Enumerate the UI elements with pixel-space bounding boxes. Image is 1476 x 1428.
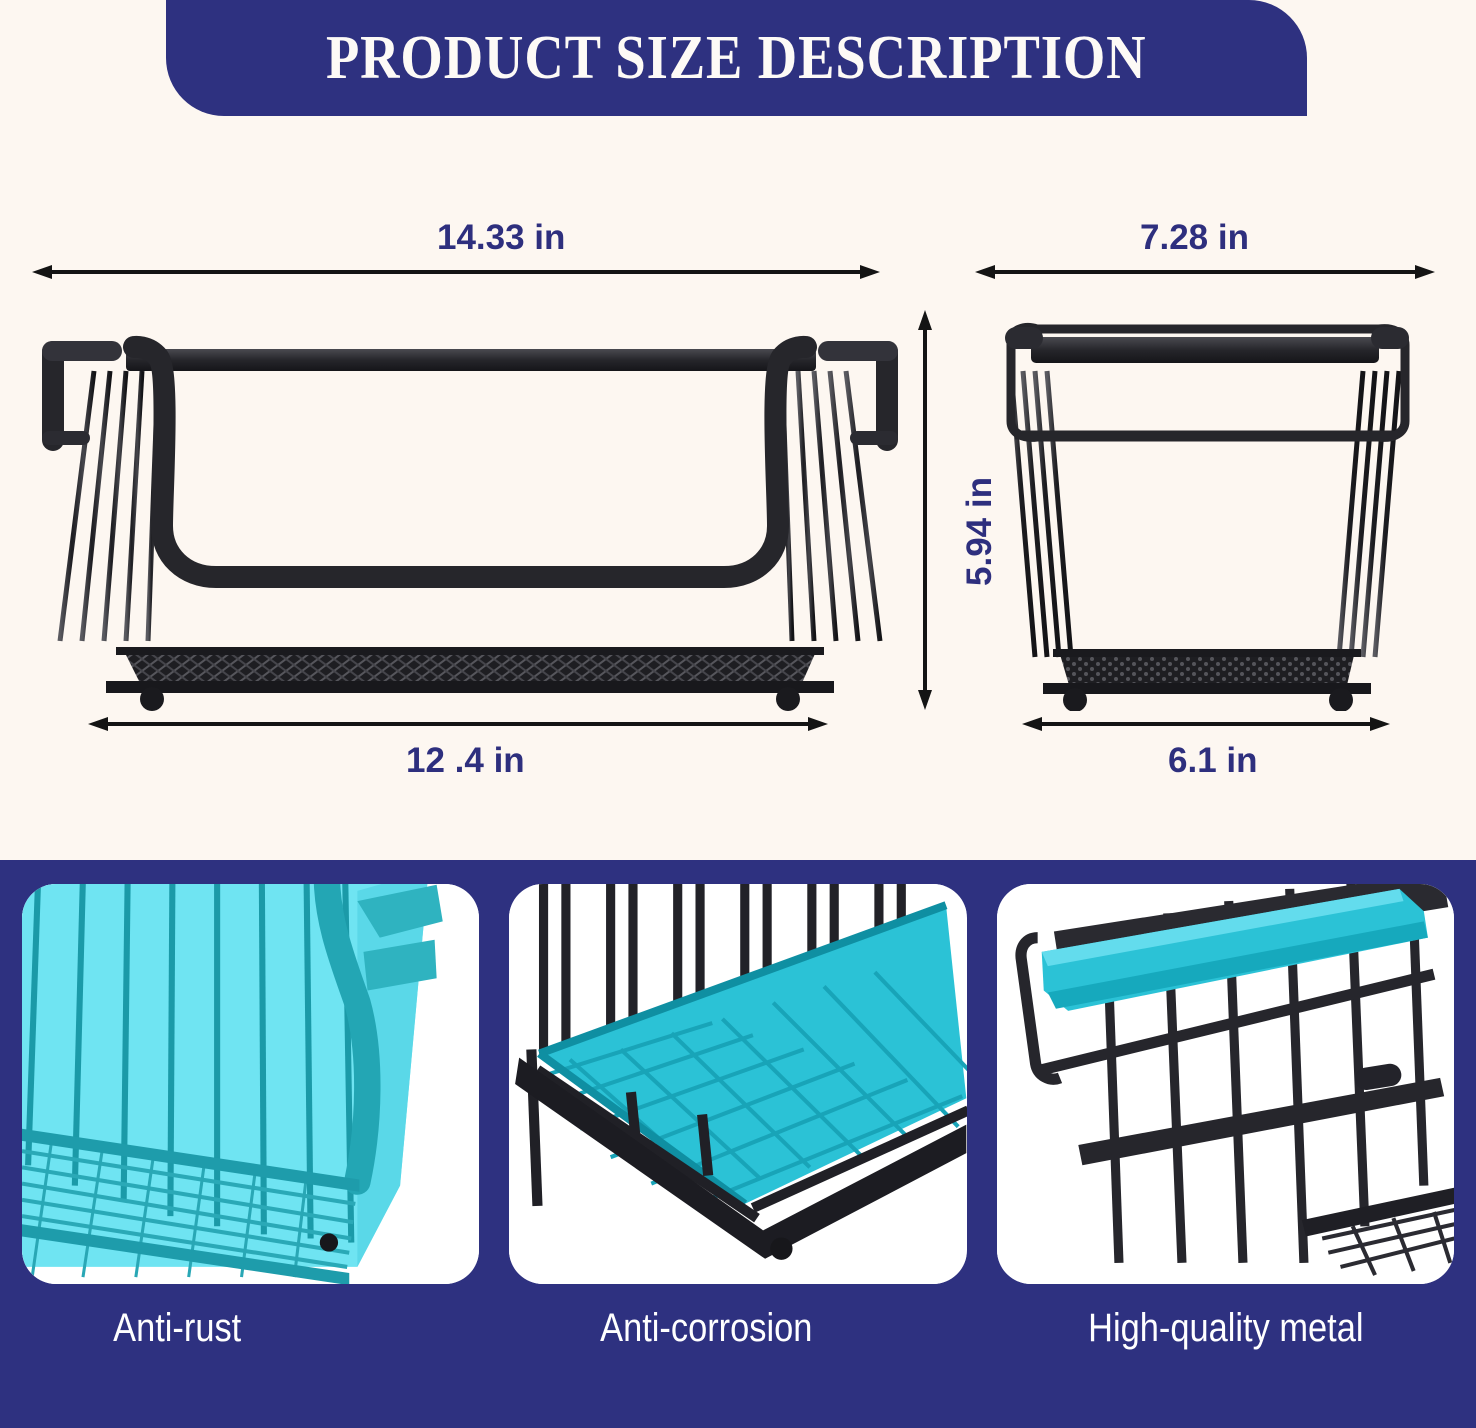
dimension-label-side-base-width: 6.1 in bbox=[1168, 741, 1257, 781]
side-endcap-left bbox=[1005, 327, 1043, 349]
front-foot-right bbox=[776, 687, 800, 711]
anti-corrosion-photo bbox=[509, 884, 966, 1284]
side-vertical-wires bbox=[1085, 357, 1331, 651]
arrow-bar bbox=[1034, 722, 1378, 726]
page-title: PRODUCT SIZE DESCRIPTION bbox=[326, 23, 1147, 94]
arrowhead-right-icon bbox=[1370, 717, 1390, 731]
front-foot-left bbox=[140, 687, 164, 711]
feature-card-anti-corrosion[interactable] bbox=[509, 884, 966, 1284]
front-right-wire-bundle bbox=[782, 371, 880, 641]
feature-caption-anti-rust: Anti-rust bbox=[22, 1306, 415, 1351]
front-top-rail bbox=[126, 349, 816, 371]
feature-caption-list: Anti-rust Anti-corrosion High-quality me… bbox=[22, 1306, 1454, 1351]
dimension-label-front-width: 14.33 in bbox=[437, 218, 565, 258]
product-side-view-illustration bbox=[975, 311, 1435, 711]
side-right-wire-bundle bbox=[1339, 371, 1399, 657]
anti-rust-photo bbox=[22, 884, 479, 1284]
front-vertical-wires bbox=[185, 355, 755, 647]
arrow-bar bbox=[44, 270, 868, 274]
feature-card-list bbox=[22, 884, 1454, 1284]
feature-card-high-quality-metal[interactable] bbox=[997, 884, 1454, 1284]
arrowhead-right-icon bbox=[860, 265, 880, 279]
product-front-view-illustration bbox=[30, 311, 910, 711]
feature-caption-anti-corrosion: Anti-corrosion bbox=[509, 1306, 902, 1351]
arrow-bar bbox=[987, 270, 1423, 274]
dimension-label-front-base-width: 12 .4 in bbox=[406, 741, 525, 781]
dimension-arrow-side-base-width bbox=[1022, 717, 1390, 731]
arrow-bar bbox=[100, 722, 816, 726]
side-endcap-right bbox=[1371, 327, 1409, 349]
front-left-wire-bundle bbox=[60, 371, 158, 641]
dimension-label-side-width: 7.28 in bbox=[1140, 218, 1249, 258]
dimension-arrow-height bbox=[918, 310, 932, 710]
dimension-diagram-section: 14.33 in 7.28 in 5.94 in 12 .4 in 6.1 in bbox=[0, 116, 1476, 860]
arrowhead-down-icon bbox=[918, 690, 932, 710]
high-quality-metal-photo bbox=[997, 884, 1454, 1284]
dimension-arrow-front-width bbox=[32, 265, 880, 279]
arrow-bar bbox=[923, 322, 927, 698]
side-foot-right bbox=[1329, 688, 1353, 711]
feature-caption-high-quality-metal: High-quality metal bbox=[997, 1306, 1390, 1351]
feature-card-anti-rust[interactable] bbox=[22, 884, 479, 1284]
arrowhead-right-icon bbox=[808, 717, 828, 731]
dimension-arrow-side-width bbox=[975, 265, 1435, 279]
header-banner: PRODUCT SIZE DESCRIPTION bbox=[166, 0, 1307, 116]
front-base-frame bbox=[106, 681, 834, 693]
arrowhead-right-icon bbox=[1415, 265, 1435, 279]
side-foot-left bbox=[1063, 688, 1087, 711]
dimension-arrow-front-base-width bbox=[88, 717, 828, 731]
feature-highlights-panel: Anti-rust Anti-corrosion High-quality me… bbox=[0, 860, 1476, 1428]
side-top-rail bbox=[1031, 337, 1379, 363]
front-left-endcap bbox=[42, 341, 122, 451]
side-base-frame bbox=[1043, 683, 1371, 694]
side-left-wire-bundle bbox=[1011, 371, 1071, 657]
front-right-endcap bbox=[818, 341, 898, 451]
